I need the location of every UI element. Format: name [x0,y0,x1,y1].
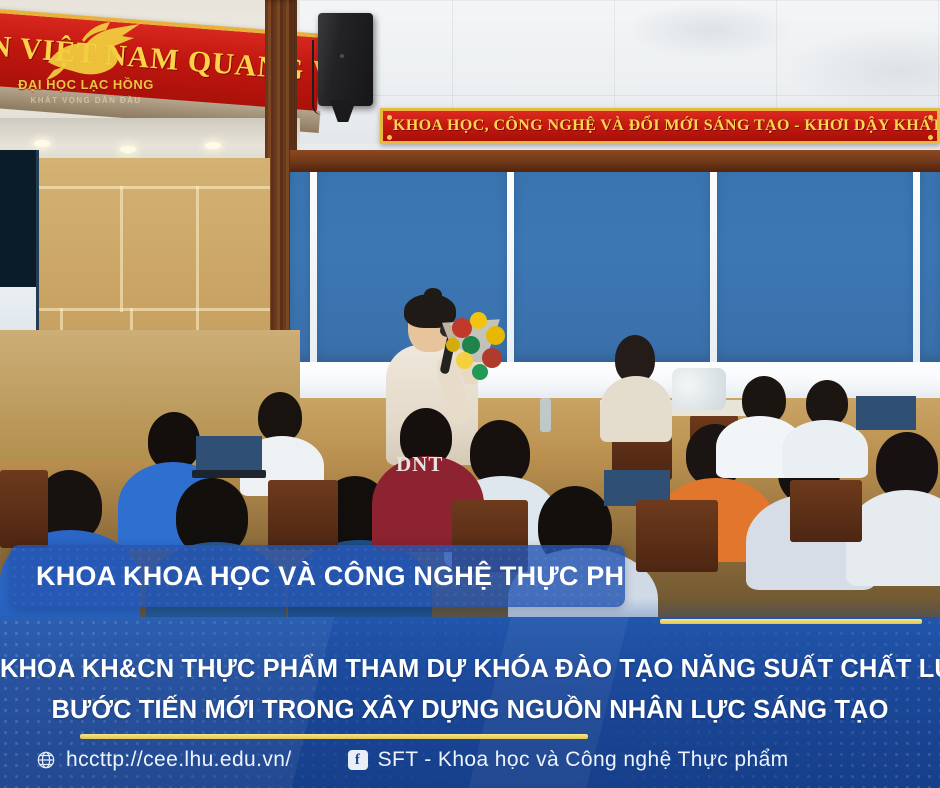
laptop-screen [856,396,916,430]
headline-line-1: KHOA KH&CN THỰC PHẨM THAM DỰ KHÓA ĐÀO TẠ… [0,655,940,684]
wall-speaker [318,13,373,106]
laptop-base [192,470,266,478]
flower-vase [672,368,726,410]
flower [452,318,472,338]
dragon-bird-icon [36,22,144,84]
website-text: hccttp://cee.lhu.edu.vn/ [66,748,292,772]
chair [268,480,338,550]
flower [472,364,488,380]
ceiling-light [34,140,50,147]
faculty-title-text: KHOA KHOA HỌC VÀ CÔNG NGHỆ THỰC PHẨM [10,561,625,592]
contact-row: hccttp://cee.lhu.edu.vn/ f SFT - Khoa họ… [0,748,940,772]
flower [456,352,473,369]
chair [0,470,48,548]
attendee-head [258,392,302,442]
ceiling-light [205,142,221,149]
facebook-icon: f [348,750,368,770]
flower [486,326,505,345]
shirt-text-dnt: DNT [396,452,466,477]
wood-beam [290,150,940,172]
logo-name: ĐẠI HỌC LẠC HỒNG [16,77,156,92]
faculty-title-chip: KHOA KHOA HỌC VÀ CÔNG NGHỆ THỰC PHẨM [10,545,625,607]
accent-rule-underline [80,734,588,739]
flower [470,312,487,329]
flower [446,338,460,352]
slogan-banner-text: KHOA HỌC, CÔNG NGHỆ VÀ ĐỔI MỚI SÁNG TẠO … [393,117,940,135]
chair [636,500,718,572]
water-bottle [540,398,551,432]
chair [790,480,862,542]
poster-root: AN VIỆT NAM QUANG VINH MUÔN ĐẠI HỌC LẠC … [0,0,940,788]
globe-icon [36,750,56,770]
speaker-person-hair-tuft [424,288,442,302]
slogan-banner: KHOA HỌC, CÔNG NGHỆ VÀ ĐỔI MỚI SÁNG TẠO … [380,108,940,144]
projection-screen [0,150,39,340]
attendee-body [600,376,672,442]
laptop-screen [196,436,262,470]
facebook-text: SFT - Khoa học và Công nghệ Thực phẩm [378,748,789,772]
ceiling-light [120,146,136,153]
accent-rule-top [660,619,922,624]
website-item[interactable]: hccttp://cee.lhu.edu.vn/ [36,748,292,772]
lhu-logo-watermark: ĐẠI HỌC LẠC HỒNG KHÁT VỌNG DẪN ĐẦU [8,22,158,117]
headline-line-2: BƯỚC TIẾN MỚI TRONG XÂY DỰNG NGUỒN NHÂN … [0,696,940,725]
logo-tagline: KHÁT VỌNG DẪN ĐẦU [16,96,156,105]
facebook-item[interactable]: f SFT - Khoa học và Công nghệ Thực phẩm [348,748,789,772]
